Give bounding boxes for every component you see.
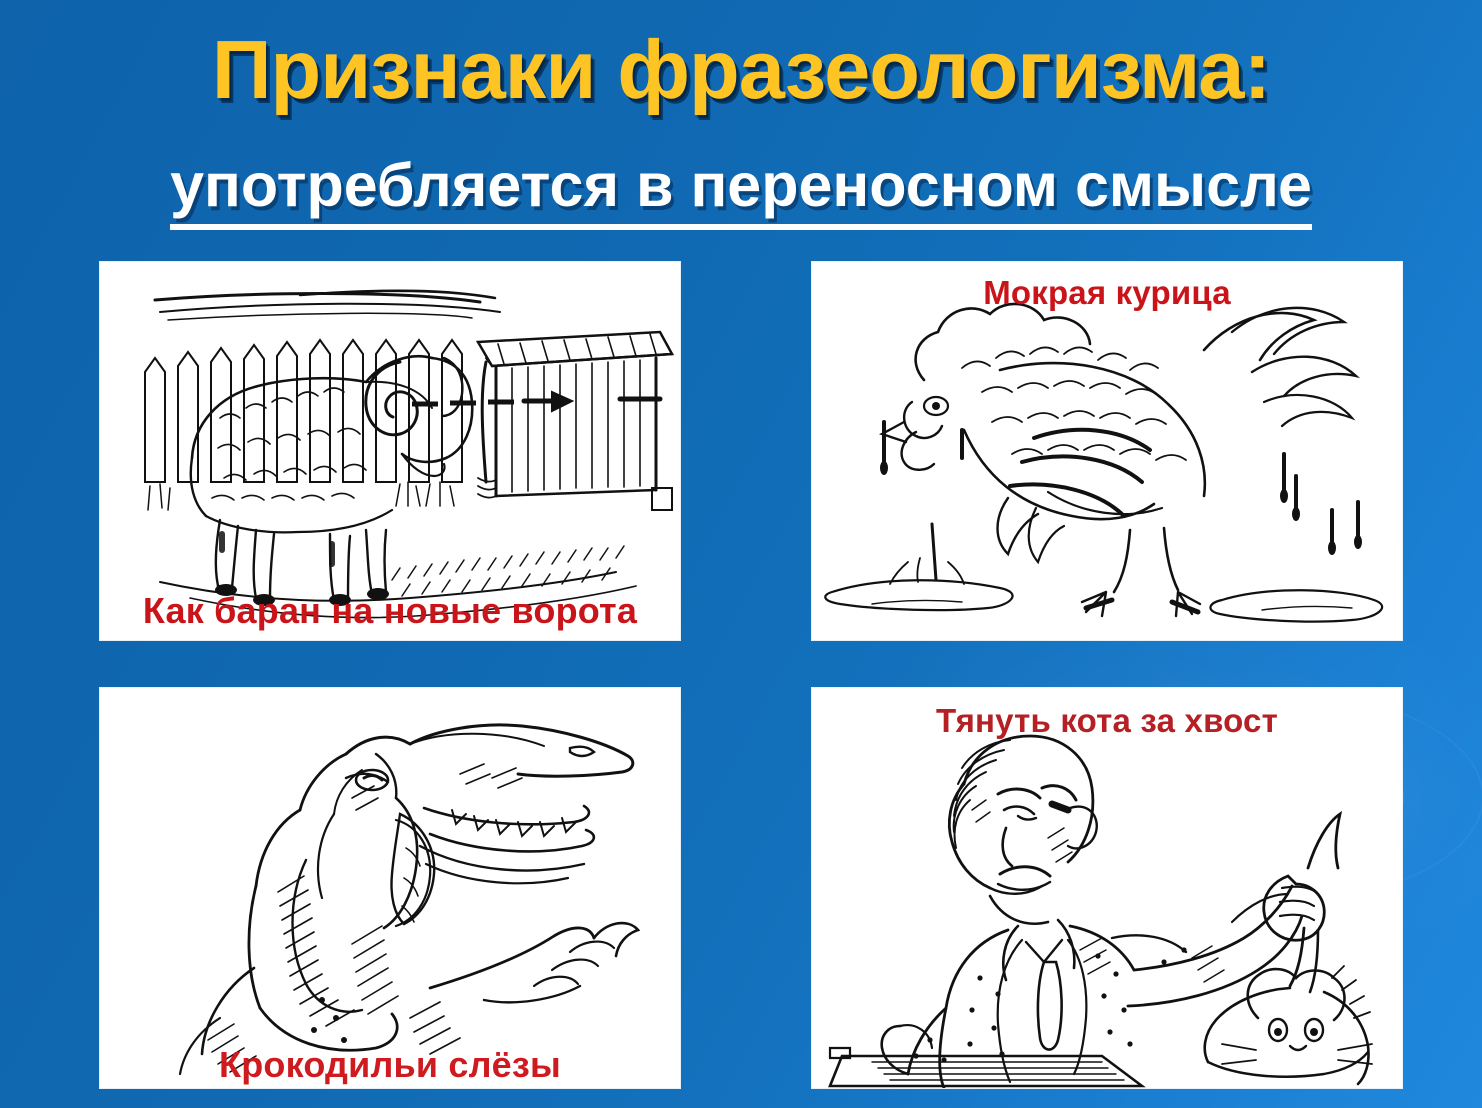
pull-cat-by-tail-drawing [812, 688, 1402, 1088]
panel-caption-wet-hen: Мокрая курица [812, 274, 1402, 312]
ram-at-new-gate-drawing [100, 262, 680, 640]
panel-caption-pull-cat-by-tail: Тянуть кота за хвост [812, 702, 1402, 740]
slide-subtitle: употребляется в переносном смысле [170, 150, 1312, 230]
slide-canvas: Признаки фразеологизма: употребляется в … [0, 0, 1482, 1108]
wet-hen-drawing [812, 262, 1402, 640]
panel-caption-crocodile-tears: Крокодильи слёзы [100, 1044, 680, 1086]
crocodile-tears-drawing [100, 688, 680, 1088]
illustration-panel-ram-at-new-gate: Как баран на новые ворота [100, 262, 680, 640]
slide-title: Признаки фразеологизма: [0, 22, 1482, 118]
slide-subtitle-container: употребляется в переносном смысле [0, 150, 1482, 230]
illustration-panel-pull-cat-by-tail: Тянуть кота за хвост [812, 688, 1402, 1088]
illustration-panel-crocodile-tears: Крокодильи слёзы [100, 688, 680, 1088]
illustration-panel-wet-hen: Мокрая курица [812, 262, 1402, 640]
panel-caption-ram-at-new-gate: Как баран на новые ворота [100, 590, 680, 632]
